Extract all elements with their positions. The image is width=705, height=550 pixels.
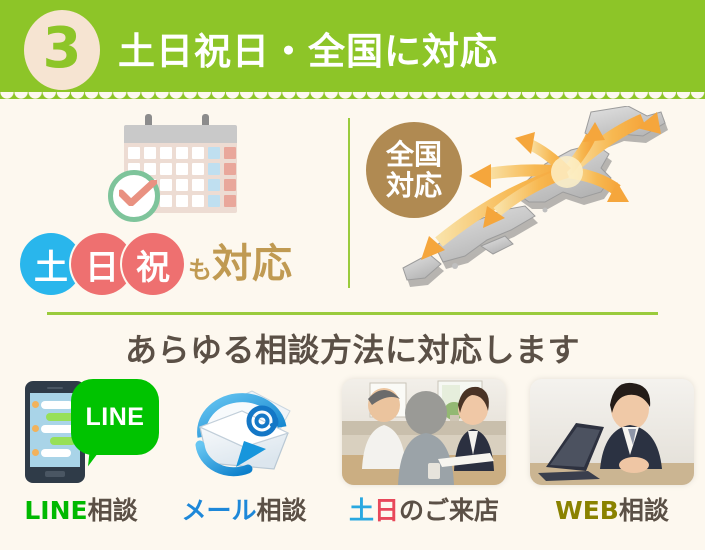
calendar-day-cell [208,163,220,175]
caption-segment: WEB [555,496,619,525]
line-logo-bubble: LINE [71,379,159,455]
chat-avatar [32,449,39,456]
card-caption: WEB相談 [524,491,700,527]
section-subtitle: あらゆる相談方法に対応します [0,325,705,371]
card-web-consultation[interactable]: WEB相談 [524,373,700,550]
calendar-day-cell [176,163,188,175]
step-number-badge: 3 [24,10,100,90]
promo-panel: 3 土日祝日・全国に対応 土 日 祝 も 対応 [0,0,705,550]
calendar-day-cell [160,179,172,191]
calendar-day-cell [208,195,220,207]
online-consultation-photo [524,373,700,493]
calendar-day-cell [176,147,188,159]
card-caption: メール相談 [156,491,332,527]
email-envelope-icon [156,373,332,493]
caption-segment: メール [181,496,256,525]
japan-map-with-arrows [395,106,705,298]
caption-segment: 日 [374,496,399,525]
caption-segment: LINE [24,496,87,525]
chat-bubble-incoming [41,401,73,409]
card-weekend-visit[interactable]: 土日のご来店 [336,373,512,550]
chat-bubble-incoming [41,449,71,457]
caption-segment: 相談 [88,496,138,525]
weekend-holiday-row: 土 日 祝 も 対応 [20,232,292,296]
chat-avatar [32,401,39,408]
phone-speaker [47,387,63,389]
card-caption: LINE相談 [0,491,169,527]
calendar-day-cell [208,147,220,159]
calendar-day-cell [144,147,156,159]
in-person-consultation-photo [336,373,512,493]
line-logo-text: LINE [86,403,145,432]
calendar-day-cell [160,195,172,207]
supported-label: 対応 [212,244,292,284]
caption-segment: 土 [349,496,374,525]
caption-segment: 相談 [619,496,669,525]
calendar-day-cell [176,179,188,191]
chat-bubble-incoming [41,425,75,433]
calendar-day-cell [176,195,188,207]
phone-home-button [45,471,65,477]
calendar-day-cell [160,147,172,159]
header-band: 3 土日祝日・全国に対応 [0,0,705,99]
step-number: 3 [43,21,82,77]
calendar-day-cell [192,195,204,207]
vertical-divider [348,118,350,288]
caption-segment: のご来店 [399,496,499,525]
calendar-day-cell [160,163,172,175]
calendar-day-cell [192,179,204,191]
calendar-day-cell [192,147,204,159]
card-line-consultation[interactable]: LINE LINE相談 [0,373,169,550]
day-badge-holiday: 祝 [122,233,184,295]
calendar-icon [97,112,257,232]
page-title: 土日祝日・全国に対応 [118,0,498,95]
calendar-day-cell [224,195,236,207]
calendar-day-cell [224,179,236,191]
calendar-day-cell [208,179,220,191]
calendar-day-cell [192,163,204,175]
consultation-methods: LINE LINE相談 [0,373,705,550]
calendar-day-cell [224,163,236,175]
line-chat-phone-icon: LINE [0,373,169,493]
horizontal-divider [47,312,658,315]
calendar-day-cell [128,147,140,159]
calendar-day-cell [224,147,236,159]
card-mail-consultation[interactable]: メール相談 [156,373,332,550]
calendar-header-bar [124,125,237,143]
also-supported-text: も 対応 [188,244,292,284]
green-check-icon [119,180,157,206]
also-particle: も [188,258,212,284]
card-caption: 土日のご来店 [336,491,512,527]
middle-section: 土 日 祝 も 対応 全国 対応 [0,104,705,300]
chat-avatar [32,425,39,432]
caption-segment: 相談 [257,496,307,525]
